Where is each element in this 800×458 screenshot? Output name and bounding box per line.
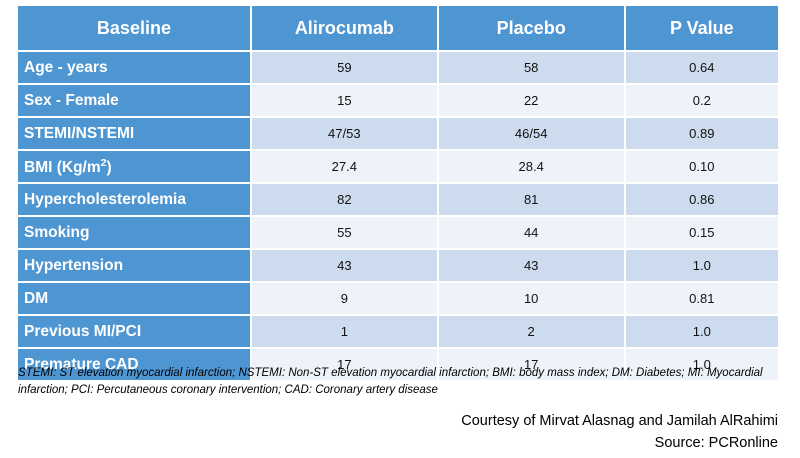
table-row: Sex - Female 15 22 0.2 bbox=[18, 85, 778, 118]
table-row: Hypercholesterolemia 82 81 0.86 bbox=[18, 184, 778, 217]
table-row: BMI (Kg/m2) 27.4 28.4 0.10 bbox=[18, 151, 778, 184]
cell-placebo: 58 bbox=[439, 52, 626, 85]
column-header-placebo: Placebo bbox=[439, 6, 626, 52]
credit-courtesy: Courtesy of Mirvat Alasnag and Jamilah A… bbox=[461, 410, 778, 432]
table-row: Age - years 59 58 0.64 bbox=[18, 52, 778, 85]
cell-pvalue: 0.81 bbox=[626, 283, 778, 316]
row-label: Smoking bbox=[18, 217, 252, 250]
cell-alirocumab: 47/53 bbox=[252, 118, 439, 151]
cell-placebo: 28.4 bbox=[439, 151, 626, 184]
row-label: STEMI/NSTEMI bbox=[18, 118, 252, 151]
row-label: Sex - Female bbox=[18, 85, 252, 118]
slide-root: Baseline Alirocumab Placebo P Value Age … bbox=[0, 6, 800, 458]
baseline-characteristics-table: Baseline Alirocumab Placebo P Value Age … bbox=[18, 6, 778, 382]
cell-pvalue: 1.0 bbox=[626, 250, 778, 283]
cell-alirocumab: 43 bbox=[252, 250, 439, 283]
credit-block: Courtesy of Mirvat Alasnag and Jamilah A… bbox=[461, 410, 778, 455]
cell-pvalue: 0.10 bbox=[626, 151, 778, 184]
row-label: Hypercholesterolemia bbox=[18, 184, 252, 217]
table-row: Previous MI/PCI 1 2 1.0 bbox=[18, 316, 778, 349]
cell-alirocumab: 27.4 bbox=[252, 151, 439, 184]
cell-pvalue: 0.64 bbox=[626, 52, 778, 85]
cell-placebo: 22 bbox=[439, 85, 626, 118]
row-label: Age - years bbox=[18, 52, 252, 85]
column-header-baseline: Baseline bbox=[18, 6, 252, 52]
cell-pvalue: 0.89 bbox=[626, 118, 778, 151]
cell-placebo: 44 bbox=[439, 217, 626, 250]
cell-pvalue: 0.86 bbox=[626, 184, 778, 217]
cell-placebo: 43 bbox=[439, 250, 626, 283]
superscript-two: 2 bbox=[101, 156, 107, 168]
table-header: Baseline Alirocumab Placebo P Value bbox=[18, 6, 778, 52]
row-label: Hypertension bbox=[18, 250, 252, 283]
cell-placebo: 2 bbox=[439, 316, 626, 349]
row-label: DM bbox=[18, 283, 252, 316]
table-row: DM 9 10 0.81 bbox=[18, 283, 778, 316]
table-body: Age - years 59 58 0.64 Sex - Female 15 2… bbox=[18, 52, 778, 382]
cell-alirocumab: 1 bbox=[252, 316, 439, 349]
table-header-row: Baseline Alirocumab Placebo P Value bbox=[18, 6, 778, 52]
cell-placebo: 46/54 bbox=[439, 118, 626, 151]
cell-pvalue: 1.0 bbox=[626, 316, 778, 349]
row-label-text: BMI (Kg/m2) bbox=[24, 159, 112, 176]
column-header-pvalue: P Value bbox=[626, 6, 778, 52]
cell-alirocumab: 55 bbox=[252, 217, 439, 250]
cell-alirocumab: 59 bbox=[252, 52, 439, 85]
cell-alirocumab: 15 bbox=[252, 85, 439, 118]
cell-pvalue: 0.2 bbox=[626, 85, 778, 118]
cell-alirocumab: 82 bbox=[252, 184, 439, 217]
table-row: Hypertension 43 43 1.0 bbox=[18, 250, 778, 283]
table-row: Smoking 55 44 0.15 bbox=[18, 217, 778, 250]
abbreviations-footnote: STEMI: ST elevation myocardial infarctio… bbox=[18, 365, 784, 398]
column-header-alirocumab: Alirocumab bbox=[252, 6, 439, 52]
row-label: BMI (Kg/m2) bbox=[18, 151, 252, 184]
cell-placebo: 81 bbox=[439, 184, 626, 217]
cell-pvalue: 0.15 bbox=[626, 217, 778, 250]
row-label: Previous MI/PCI bbox=[18, 316, 252, 349]
cell-alirocumab: 9 bbox=[252, 283, 439, 316]
cell-placebo: 10 bbox=[439, 283, 626, 316]
table-row: STEMI/NSTEMI 47/53 46/54 0.89 bbox=[18, 118, 778, 151]
